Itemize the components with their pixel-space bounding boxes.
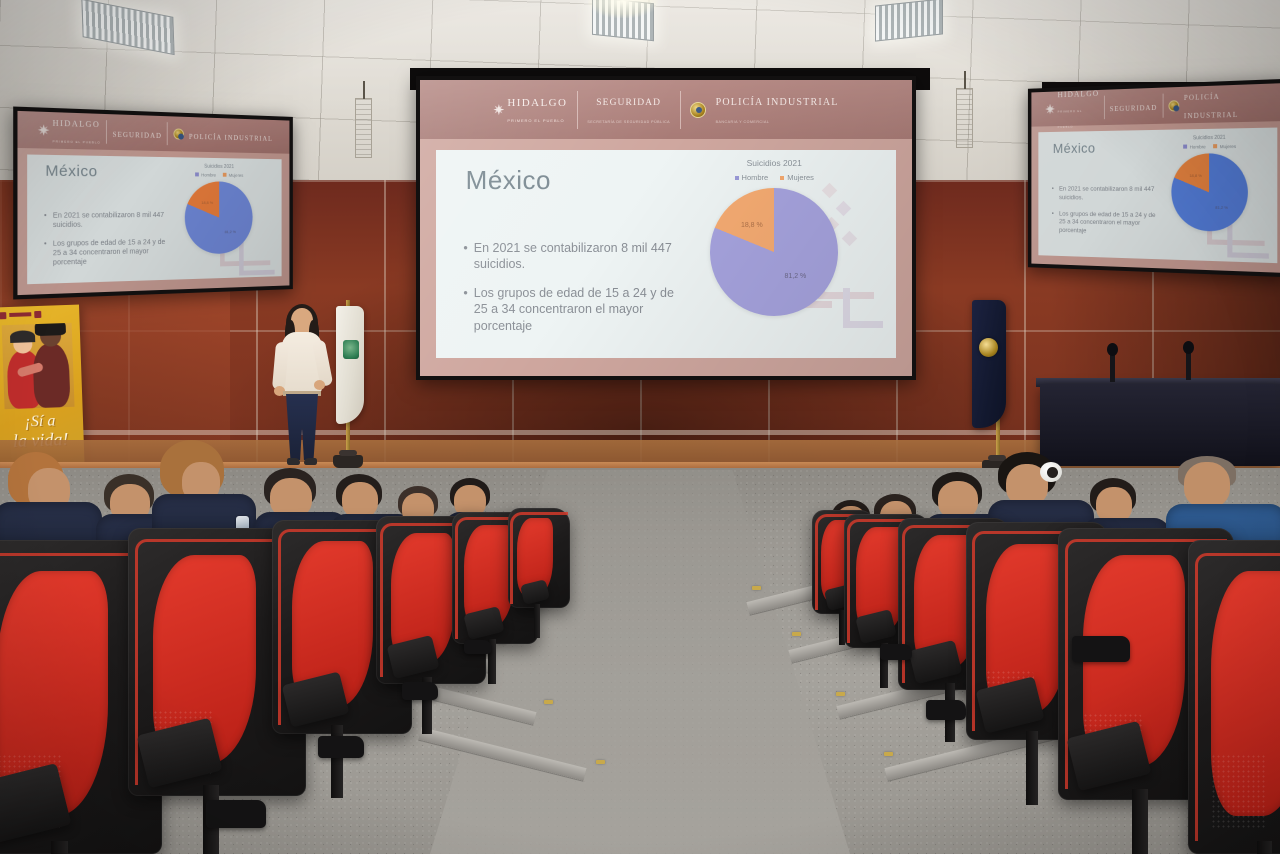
microphone-icon — [1186, 350, 1191, 380]
presenter-trousers — [286, 394, 318, 460]
legend-item-hombre: Hombre — [1183, 144, 1206, 149]
banner-line-1: ¡Sí a — [0, 412, 83, 431]
pie-label-hombre: 81,2 % — [1215, 204, 1228, 209]
bullet-marker: • — [463, 240, 467, 273]
audience-shoe — [464, 640, 492, 654]
legend-item-mujeres: Mujeres — [1213, 144, 1236, 149]
audience-shoe — [206, 800, 266, 828]
presenter-shoe — [287, 458, 300, 465]
microphone-icon — [1110, 352, 1115, 382]
legend-swatch-mujeres — [222, 173, 226, 177]
step-marker — [884, 752, 893, 756]
chart-title: Suicidios 2021 — [666, 158, 882, 168]
corps-logo: POLICÍA INDUSTRIAL — [189, 125, 273, 144]
chart-legend: Hombre Mujeres — [161, 172, 275, 178]
chart-title: Suicidios 2021 — [1152, 134, 1269, 142]
pie-label-mujeres: 18,8 % — [201, 200, 213, 205]
slide-bullet: • En 2021 se contabilizaron 8 mil 447 su… — [463, 240, 675, 273]
pie-label-mujeres: 18,8 % — [741, 222, 763, 229]
chart-legend: Hombre Mujeres — [1152, 143, 1269, 150]
header-divider — [167, 122, 168, 144]
projection-screen-left[interactable]: HIDALGO PRIMERO EL PUEBLO SEGURIDAD POLI… — [13, 106, 293, 299]
person-head — [1184, 462, 1230, 508]
slide-bullet: • Los grupos de edad de 15 a 24 y de 25 … — [44, 237, 166, 268]
slide-header-band: HIDALGO PRIMERO EL PUEBLO SEGURIDAD SECR… — [420, 80, 912, 139]
slide-header-band: HIDALGO PRIMERO EL PUEBLO SEGURIDAD POLI… — [17, 111, 289, 154]
pie-chart: 18,8 % 81,2 % — [710, 188, 838, 316]
slide-bullet-list: • En 2021 se contabilizaron 8 mil 447 su… — [44, 211, 166, 281]
slide-bullet: • Los grupos de edad de 15 a 24 y de 25 … — [463, 285, 675, 335]
corps-name: POLICÍA INDUSTRIAL — [1184, 93, 1238, 120]
slide-bullet: • En 2021 se contabilizaron 8 mil 447 su… — [44, 211, 166, 231]
loudspeaker-icon — [956, 88, 973, 148]
slide-bullet-list: • En 2021 se contabilizaron 8 mil 447 su… — [1052, 186, 1157, 249]
corps-logo: POLICÍA INDUSTRIAL BANCARIA Y COMERCIAL — [716, 92, 839, 127]
slide-body: México • En 2021 se contabilizaron 8 mil… — [436, 150, 897, 358]
state-flag-emblem-icon — [343, 340, 359, 359]
chart-legend: Hombre Mujeres — [666, 173, 882, 182]
step-marker — [544, 700, 553, 704]
bullet-marker: • — [463, 285, 467, 335]
hidalgo-logo: HIDALGO PRIMERO EL PUEBLO — [493, 94, 567, 126]
slide-title: México — [45, 163, 97, 181]
police-badge-icon — [173, 128, 183, 139]
pie-label-mujeres: 18,8 % — [1189, 173, 1201, 178]
pie-chart: 18,8 % 81,2 % — [185, 181, 253, 254]
legend-swatch-mujeres — [1213, 145, 1217, 149]
legend-swatch-hombre — [195, 173, 199, 177]
legend-item-hombre: Hombre — [735, 173, 769, 182]
legend-item-hombre: Hombre — [195, 172, 216, 177]
step-marker — [792, 632, 801, 636]
header-divider — [106, 120, 107, 143]
chart-title: Suicidios 2021 — [161, 163, 275, 171]
slide-bullet: • En 2021 se contabilizaron 8 mil 447 su… — [1052, 186, 1157, 204]
flag-cloth — [972, 300, 1006, 428]
audience-shoe — [880, 644, 912, 660]
step-marker — [836, 692, 845, 696]
bullet-text: En 2021 se contabilizaron 8 mil 447 suic… — [1059, 186, 1157, 204]
hair-scrunchie — [1040, 462, 1062, 482]
bullet-marker: • — [44, 239, 47, 268]
corps-flag-badge-icon — [979, 338, 998, 357]
bullet-marker: • — [1052, 210, 1054, 235]
banner-logo-strip — [0, 305, 80, 324]
person-head — [342, 482, 378, 518]
pie-label-hombre: 81,2 % — [784, 273, 806, 280]
state-name: HIDALGO — [507, 97, 567, 109]
pie-label-hombre: 81,2 % — [225, 229, 236, 234]
ceiling-light-glow — [588, 0, 658, 18]
audience-shoe — [926, 700, 966, 720]
secretariat-name: SEGURIDAD — [113, 130, 162, 139]
header-divider — [1162, 94, 1163, 117]
slide-main: HIDALGO PRIMERO EL PUEBLO SEGURIDAD SECR… — [420, 80, 912, 376]
audience-shoe — [1072, 636, 1130, 662]
police-badge-icon — [1168, 100, 1179, 111]
secretariat-logo: SEGURIDAD — [1110, 97, 1158, 116]
hidalgo-star-icon — [1045, 104, 1055, 115]
legend-swatch-mujeres — [780, 176, 784, 180]
state-name: HIDALGO — [53, 119, 101, 130]
slide-header-band: HIDALGO PRIMERO EL PUEBLO SEGURIDAD POLI… — [1031, 83, 1280, 127]
hidalgo-logo: HIDALGO PRIMERO EL PUEBLO — [38, 113, 101, 148]
pie-chart-block: Suicidios 2021 Hombre Mujeres 18,8 % 81,… — [161, 161, 275, 276]
corps-subtitle: BANCARIA Y COMERCIAL — [716, 120, 770, 124]
step-marker — [596, 760, 605, 764]
bullet-text: Los grupos de edad de 15 a 24 y de 25 a … — [53, 237, 166, 268]
loudspeaker-icon — [355, 98, 372, 158]
corps-name: POLICÍA INDUSTRIAL — [716, 97, 839, 108]
step-marker — [752, 586, 761, 590]
pie-chart-block: Suicidios 2021 Hombre Mujeres 18,8 % 81,… — [666, 156, 882, 352]
header-divider — [1104, 96, 1105, 119]
bullet-text: Los grupos de edad de 15 a 24 y de 25 a … — [1059, 210, 1157, 237]
projection-screen-main[interactable]: HIDALGO PRIMERO EL PUEBLO SEGURIDAD SECR… — [416, 76, 916, 380]
secretariat-subtitle: SECRETARÍA DE SEGURIDAD PÚBLICA — [587, 120, 670, 124]
bullet-marker: • — [1052, 186, 1054, 202]
slide-bullet: • Los grupos de edad de 15 a 24 y de 25 … — [1052, 210, 1157, 237]
state-tagline: PRIMERO EL PUEBLO — [507, 118, 564, 123]
audience-shoe — [318, 736, 364, 758]
slide-right: HIDALGO PRIMERO EL PUEBLO SEGURIDAD POLI… — [1031, 83, 1280, 273]
bullet-text: Los grupos de edad de 15 a 24 y de 25 a … — [474, 285, 675, 335]
audience-shoe — [402, 682, 438, 700]
flag-base — [333, 455, 363, 468]
header-divider — [680, 91, 681, 129]
presenter-hand — [314, 380, 325, 390]
slide-title: México — [466, 165, 551, 196]
banner-figure — [32, 343, 70, 408]
police-badge-icon — [690, 102, 706, 118]
hidalgo-logo: HIDALGO PRIMERO EL PUEBLO — [1045, 84, 1099, 132]
slide-bullet-list: • En 2021 se contabilizaron 8 mil 447 su… — [463, 240, 675, 347]
state-name: HIDALGO — [1058, 89, 1100, 99]
legend-item-mujeres: Mujeres — [780, 173, 814, 182]
secretariat-name: SEGURIDAD — [1110, 104, 1158, 113]
state-tagline: PRIMERO EL PUEBLO — [1058, 109, 1083, 129]
auditorium-seat[interactable] — [508, 508, 570, 608]
pie-chart: 18,8 % 81,2 % — [1171, 153, 1248, 232]
ceiling-light-fixture — [875, 0, 943, 42]
auditorium-seat[interactable] — [1188, 540, 1280, 854]
legend-swatch-hombre — [735, 176, 739, 180]
bullet-text: En 2021 se contabilizaron 8 mil 447 suic… — [474, 240, 675, 273]
hidalgo-star-icon — [38, 124, 50, 136]
presenter — [272, 308, 332, 468]
corps-logo: POLICÍA INDUSTRIAL — [1184, 84, 1269, 123]
slide-body: México • En 2021 se contabilizaron 8 mil… — [1039, 127, 1277, 262]
slide-body: México • En 2021 se contabilizaron 8 mil… — [27, 154, 281, 284]
pie-chart-block: Suicidios 2021 Hombre Mujeres 18,8 % 81,… — [1152, 132, 1269, 259]
slide-left: HIDALGO PRIMERO EL PUEBLO SEGURIDAD POLI… — [17, 111, 289, 295]
projection-screen-right[interactable]: HIDALGO PRIMERO EL PUEBLO SEGURIDAD POLI… — [1028, 79, 1280, 278]
corps-name: POLICÍA INDUSTRIAL — [189, 132, 273, 142]
header-divider — [577, 91, 578, 129]
secretariat-logo: SEGURIDAD SECRETARÍA DE SEGURIDAD PÚBLIC… — [587, 92, 670, 127]
flag-cloth — [336, 306, 364, 424]
hidalgo-star-icon — [493, 104, 504, 115]
legend-item-mujeres: Mujeres — [222, 172, 243, 177]
state-tagline: PRIMERO EL PUEBLO — [53, 140, 101, 145]
presenter-shoe — [304, 458, 317, 465]
secretariat-name: SEGURIDAD — [596, 98, 661, 108]
slide-title: México — [1053, 140, 1096, 156]
secretariat-logo: SEGURIDAD — [113, 123, 162, 142]
legend-swatch-hombre — [1183, 145, 1187, 149]
auditorium-scene: HIDALGO PRIMERO EL PUEBLO SEGURIDAD SECR… — [0, 0, 1280, 854]
bullet-marker: • — [44, 211, 47, 230]
bullet-text: En 2021 se contabilizaron 8 mil 447 suic… — [53, 211, 166, 231]
banner-illustration — [2, 323, 75, 409]
